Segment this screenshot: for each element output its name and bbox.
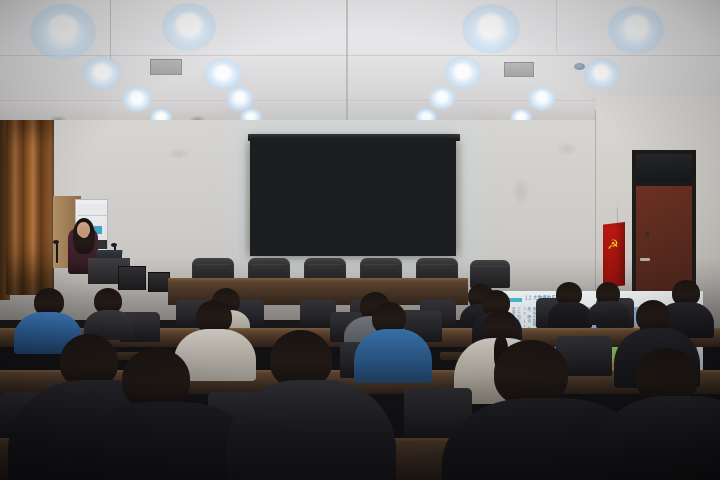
window-curtain: [6, 120, 54, 295]
microphone-stem: [56, 243, 58, 263]
projection-screen: 1.2 大数据的应用案例·国内 ◬···· 春运大数据：2月1日—3月9日，来源…: [250, 139, 456, 256]
party-flag: [603, 222, 625, 288]
speaker-box: [118, 266, 146, 290]
door-handle[interactable]: [640, 258, 650, 261]
microphone-head: [53, 240, 59, 244]
conference-room-photo: ☭ 1.2 大数据的应用案例·国内 ◬···· 春运大数据：2月1日—3月9日，…: [0, 0, 720, 480]
door-transom-window: [636, 154, 692, 182]
microphone-head: [111, 243, 117, 247]
speaker-box: [148, 272, 170, 292]
flag-finial: [614, 202, 620, 208]
ceiling-vent: [150, 59, 182, 75]
smoke-detector-icon: [574, 63, 585, 70]
ceiling-vent: [504, 62, 534, 77]
whiteboard-header: [78, 204, 107, 216]
hammer-sickle-icon: ☭: [606, 238, 620, 252]
door-lock-icon: [646, 232, 649, 237]
presenter-face: [79, 226, 89, 238]
